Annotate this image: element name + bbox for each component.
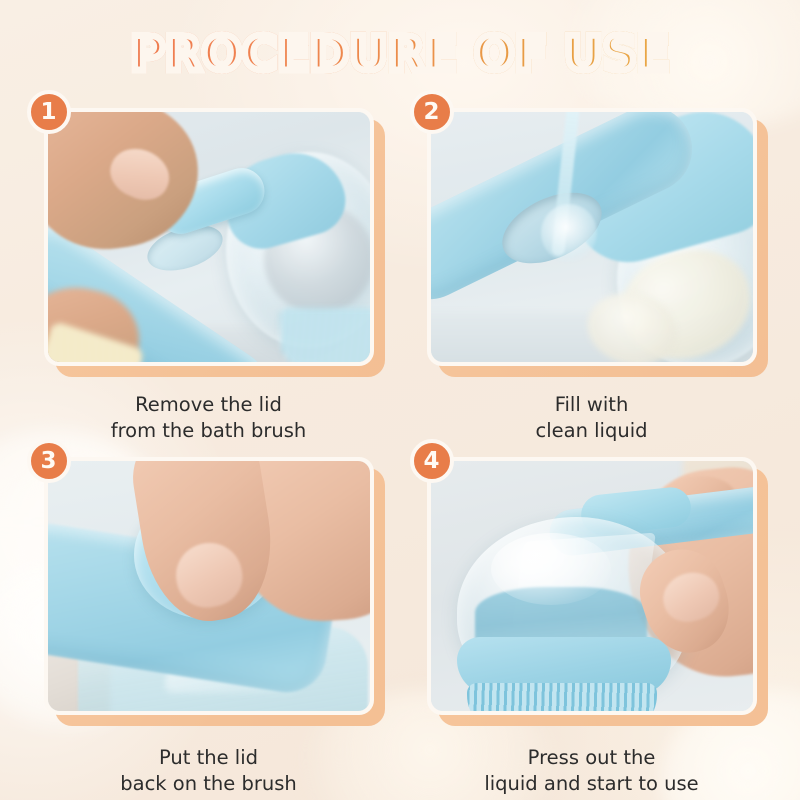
page-title-text: PROCEDURE OF USE (130, 31, 670, 78)
step-photo-1 (48, 112, 370, 362)
step-number-badge: 4 (410, 439, 454, 483)
step-card-4: 4 Press out the liquid and start to use (427, 457, 757, 797)
step-caption-3: Put the lid back on the brush (44, 745, 374, 797)
step-caption-2: Fill with clean liquid (427, 392, 757, 444)
step-number-badge: 2 (410, 90, 454, 134)
infographic-root: PROCEDURE OF USE (0, 0, 800, 800)
step-card-3: 3 Put the lid back on the brush (44, 457, 374, 797)
step-card-1: 1 Remove the lid from the bath brush (44, 108, 374, 444)
scene-replace-lid (48, 461, 370, 711)
steps-grid: 1 Remove the lid from the bath brush (0, 108, 800, 798)
step-photo-3 (48, 461, 370, 711)
step-photo-2 (431, 112, 753, 362)
steps-row-top: 1 Remove the lid from the bath brush (0, 108, 800, 444)
step-card-2: 2 Fill with clean liquid (427, 108, 757, 444)
step-number-badge: 1 (27, 90, 71, 134)
scene-remove-lid (48, 112, 370, 362)
scene-squeeze-brush (431, 461, 753, 711)
step-caption-1: Remove the lid from the bath brush (44, 392, 374, 444)
photo-frame-4: 4 (427, 457, 757, 715)
photo-frame-1: 1 (44, 108, 374, 366)
scene-fill-liquid (431, 112, 753, 362)
step-photo-4 (431, 461, 753, 711)
photo-frame-2: 2 (427, 108, 757, 366)
step-number-badge: 3 (27, 439, 71, 483)
photo-frame-3: 3 (44, 457, 374, 715)
page-title: PROCEDURE OF USE (0, 31, 800, 78)
steps-row-bottom: 3 Put the lid back on the brush (0, 457, 800, 797)
step-caption-4: Press out the liquid and start to use (427, 745, 757, 797)
